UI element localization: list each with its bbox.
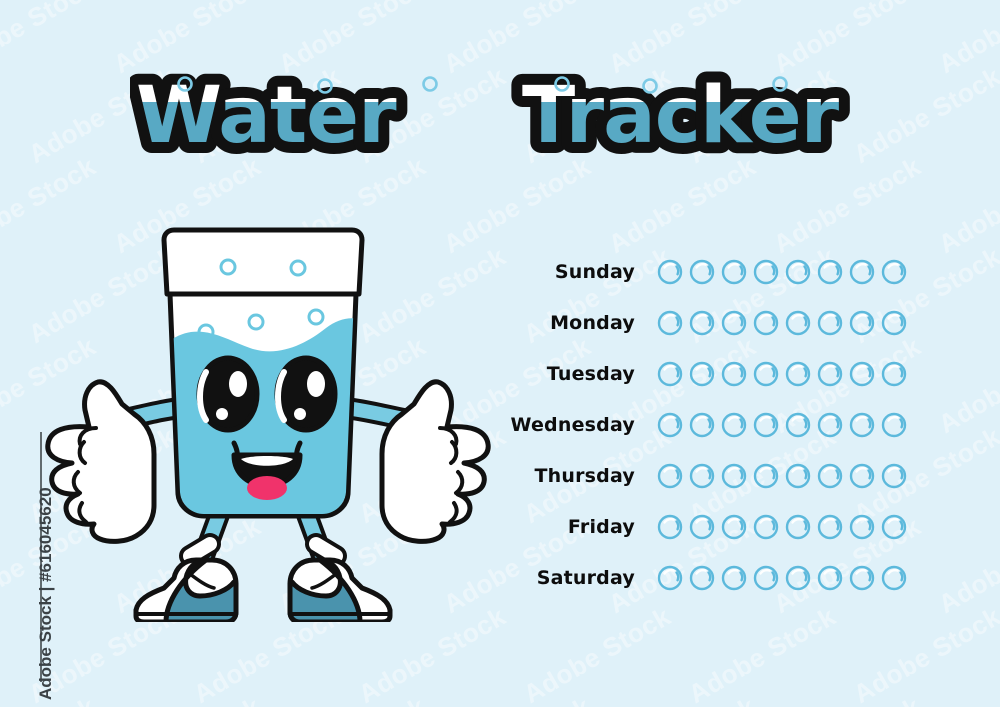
bubble-checkbox[interactable] <box>689 259 715 285</box>
bubble-checkbox[interactable] <box>785 565 811 591</box>
bubble-checkbox[interactable] <box>881 412 907 438</box>
bubble-checkbox[interactable] <box>849 412 875 438</box>
bubble-checkbox[interactable] <box>849 361 875 387</box>
credit-text: Adobe Stock | #616045620 <box>36 440 56 700</box>
bubble-checkbox[interactable] <box>785 361 811 387</box>
bubble-checkbox[interactable] <box>785 463 811 489</box>
bubble-checkbox-group <box>657 463 907 489</box>
bubble-checkbox[interactable] <box>881 514 907 540</box>
day-label-thursday: Thursday <box>480 465 657 487</box>
bubble-checkbox[interactable] <box>721 412 747 438</box>
bubble-checkbox[interactable] <box>753 259 779 285</box>
bubble-checkbox-group <box>657 565 907 591</box>
bubble-checkbox[interactable] <box>817 514 843 540</box>
day-label-monday: Monday <box>480 312 657 334</box>
tracker-grid: Sunday Monday Tuesday <box>0 0 1000 707</box>
bubble-checkbox[interactable] <box>689 310 715 336</box>
bubble-checkbox[interactable] <box>657 259 683 285</box>
bubble-checkbox[interactable] <box>689 412 715 438</box>
day-label-saturday: Saturday <box>480 567 657 589</box>
bubble-checkbox[interactable] <box>881 463 907 489</box>
bubble-checkbox[interactable] <box>753 310 779 336</box>
credit-sidebar: Adobe Stock | #616045620 <box>0 0 46 707</box>
bubble-checkbox[interactable] <box>849 310 875 336</box>
tracker-row: Sunday <box>480 252 950 292</box>
bubble-checkbox[interactable] <box>753 463 779 489</box>
bubble-checkbox[interactable] <box>657 310 683 336</box>
bubble-checkbox[interactable] <box>689 514 715 540</box>
bubble-checkbox[interactable] <box>657 514 683 540</box>
tracker-row: Thursday <box>480 456 950 496</box>
bubble-checkbox[interactable] <box>849 565 875 591</box>
tracker-row: Friday <box>480 507 950 547</box>
bubble-checkbox[interactable] <box>753 565 779 591</box>
bubble-checkbox[interactable] <box>881 259 907 285</box>
bubble-checkbox[interactable] <box>753 361 779 387</box>
bubble-checkbox[interactable] <box>849 463 875 489</box>
bubble-checkbox-group <box>657 361 907 387</box>
bubble-checkbox[interactable] <box>689 463 715 489</box>
bubble-checkbox[interactable] <box>817 463 843 489</box>
bubble-checkbox[interactable] <box>689 565 715 591</box>
bubble-checkbox[interactable] <box>753 514 779 540</box>
bubble-checkbox[interactable] <box>721 259 747 285</box>
bubble-checkbox[interactable] <box>849 514 875 540</box>
day-label-tuesday: Tuesday <box>480 363 657 385</box>
bubble-checkbox-group <box>657 412 907 438</box>
bubble-checkbox[interactable] <box>657 412 683 438</box>
day-label-friday: Friday <box>480 516 657 538</box>
bubble-checkbox[interactable] <box>817 361 843 387</box>
day-label-wednesday: Wednesday <box>480 414 657 436</box>
bubble-checkbox[interactable] <box>753 412 779 438</box>
poster-canvas: Adobe StockAdobe StockAdobe StockAdobe S… <box>0 0 1000 707</box>
day-label-sunday: Sunday <box>480 261 657 283</box>
bubble-checkbox[interactable] <box>785 259 811 285</box>
bubble-checkbox-group <box>657 310 907 336</box>
bubble-checkbox[interactable] <box>881 361 907 387</box>
tracker-row: Tuesday <box>480 354 950 394</box>
bubble-checkbox[interactable] <box>849 259 875 285</box>
bubble-checkbox[interactable] <box>785 514 811 540</box>
bubble-checkbox[interactable] <box>721 463 747 489</box>
bubble-checkbox[interactable] <box>785 310 811 336</box>
tracker-row: Saturday <box>480 558 950 598</box>
bubble-checkbox[interactable] <box>785 412 811 438</box>
bubble-checkbox[interactable] <box>881 565 907 591</box>
bubble-checkbox[interactable] <box>721 310 747 336</box>
bubble-checkbox[interactable] <box>657 565 683 591</box>
bubble-checkbox[interactable] <box>689 361 715 387</box>
bubble-checkbox[interactable] <box>817 259 843 285</box>
bubble-checkbox[interactable] <box>721 514 747 540</box>
bubble-checkbox[interactable] <box>817 310 843 336</box>
tracker-row: Wednesday <box>480 405 950 445</box>
bubble-checkbox[interactable] <box>721 565 747 591</box>
tracker-row: Monday <box>480 303 950 343</box>
bubble-checkbox[interactable] <box>657 463 683 489</box>
bubble-checkbox[interactable] <box>721 361 747 387</box>
bubble-checkbox[interactable] <box>881 310 907 336</box>
bubble-checkbox-group <box>657 514 907 540</box>
bubble-checkbox[interactable] <box>657 361 683 387</box>
bubble-checkbox[interactable] <box>817 565 843 591</box>
bubble-checkbox[interactable] <box>817 412 843 438</box>
bubble-checkbox-group <box>657 259 907 285</box>
